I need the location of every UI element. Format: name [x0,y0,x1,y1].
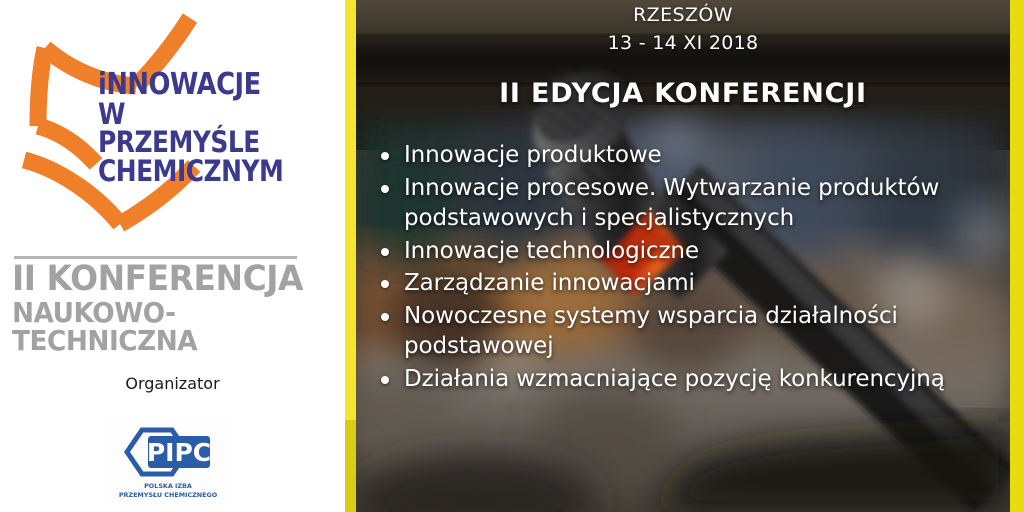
right-photo-panel: RZESZÓW 13 - 14 XI 2018 II EDYCJA KONFER… [345,0,1024,512]
yellow-border-left-lower [345,420,356,512]
list-item: Zarządzanie innowacjami [372,268,1000,299]
svg-text:PIPC: PIPC [147,438,211,467]
headline-text: II EDYCJA KONFERENCJI [356,78,1010,109]
conference-poster: iNNOWACJE W PRZEMYŚLE CHEMICZNYM II KONF… [0,0,1024,512]
conference-title-line-2: NAUKOWO-TECHNICZNA [12,299,313,355]
dates-text: 13 - 14 XI 2018 [356,32,1010,54]
left-branding-panel: iNNOWACJE W PRZEMYŚLE CHEMICZNYM II KONF… [0,0,345,512]
conference-title-line-1: II KONFERENCJA [12,262,313,297]
topics-list: Innowacje produktowe Innowacje procesowe… [372,140,1000,397]
list-item: Działania wzmacniające pozycję konkurenc… [372,364,1000,395]
pipc-organizer-logo: PIPC POLSKA IZBA PRZEMYSŁU CHEMICZNEGO [110,418,226,504]
brand-line-3: CHEMICZNYM [98,157,270,186]
svg-text:PRZEMYSŁU CHEMICZNEGO: PRZEMYSŁU CHEMICZNEGO [119,491,218,499]
right-panel-content: RZESZÓW 13 - 14 XI 2018 II EDYCJA KONFER… [356,0,1010,512]
conference-title: II KONFERENCJA NAUKOWO-TECHNICZNA [12,262,332,355]
brand-line-1: iNNOWACJE [98,70,270,100]
svg-text:POLSKA IZBA: POLSKA IZBA [144,482,192,490]
organizer-label: Organizator [0,374,345,393]
yellow-border-right [1010,0,1024,512]
yellow-border-left [345,0,356,420]
list-item: Innowacje technologiczne [372,236,1000,267]
list-item: Nowoczesne systemy wsparcia działalności… [372,301,1000,362]
brand-line-2: W PRZEMYŚLE [98,100,270,157]
list-item: Innowacje produktowe [372,140,1000,171]
list-item: Innowacje procesowe. Wytwarzanie produkt… [372,173,1000,234]
brand-wordmark: iNNOWACJE W PRZEMYŚLE CHEMICZNYM [98,70,270,186]
location-text: RZESZÓW [356,4,1010,26]
